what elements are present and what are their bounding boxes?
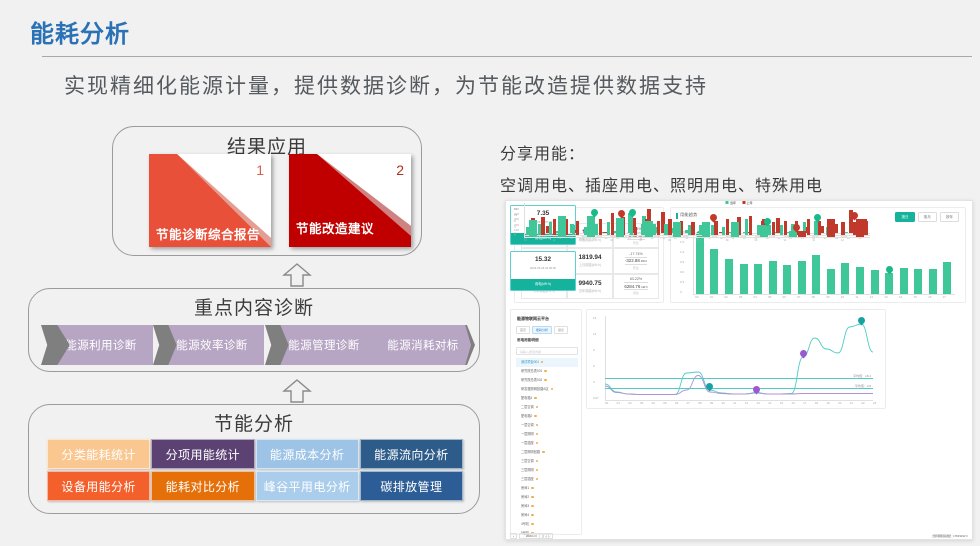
sidebar-tree-item-label: 一层照明 [521, 432, 534, 436]
energy-trend-tabs: 按日按月按年 [895, 212, 959, 222]
x-tick-label: 18 [815, 401, 818, 405]
saving-tile-label: 碳排放管理 [380, 478, 442, 495]
bar [673, 222, 681, 237]
report-card-1[interactable]: 1 节能诊断综合报告 [149, 154, 271, 247]
sidebar-tree-item-label: 房间4 [521, 513, 529, 517]
chevron-face: 能源消耗对标 [375, 325, 471, 365]
sidebar-tree-item[interactable]: 二层空调 [516, 403, 578, 412]
x-tick-label: 22 [861, 401, 864, 405]
y-tick-label: 500 [514, 207, 519, 211]
sidebar-tree-item-label: 研究院总表002 [521, 378, 542, 382]
y-tick-label: 0 [680, 290, 682, 294]
kpi-note: 环比 [633, 241, 639, 245]
sidebar-tree-item-label: 三层照明 [521, 468, 534, 472]
saving-analysis-group: 节能分析 分类能耗统计 分项用能统计 能源成本分析 能源流向分析 设备用能分析 … [28, 404, 480, 514]
x-tick-label: 16 [791, 401, 794, 405]
sidebar-tree-item-label: 三层空调 [521, 459, 534, 463]
daily-total: 当年累积总量：17315kW·h [932, 534, 968, 538]
sidebar-tree-item[interactable]: 三层插座 [516, 475, 578, 484]
saving-tile-label: 能源流向分析 [374, 446, 448, 463]
info-card-button[interactable]: 用电(kW·h) [511, 279, 575, 290]
report-card-label: 节能诊断综合报告 [156, 227, 266, 243]
nav-pill[interactable]: 报表 [554, 326, 568, 334]
status-dot-icon [551, 388, 553, 390]
sidebar-tree-item[interactable]: 房间1 [516, 484, 578, 493]
x-tick-label: 10 [722, 401, 725, 405]
sidebar-tree-item[interactable]: 三层空调 [516, 457, 578, 466]
x-tick-label: 11 [855, 295, 858, 299]
bar [769, 261, 777, 294]
y-tick-label: 200 [514, 223, 519, 227]
sidebar-search-input[interactable]: 请输入搜索内容 [516, 347, 578, 355]
saving-tile-7[interactable]: 碳排放管理 [360, 471, 463, 501]
y-tick-label: 0.6 [680, 270, 684, 274]
x-tick-label: 11 [812, 239, 814, 242]
bar [812, 255, 820, 294]
y-tick-label: 9 [593, 348, 595, 352]
x-tick-label: 01 [617, 401, 620, 405]
bar [943, 262, 951, 294]
daily-pager[interactable]: ‹ 2023 › [510, 533, 549, 539]
bar [929, 269, 937, 294]
kpi-cell: 63.22%6284.76 kW·h同比 [613, 274, 659, 299]
saving-analysis-title: 节能分析 [29, 409, 479, 436]
sidebar-tree-item-label: 4号机 [521, 522, 529, 526]
report-card-label: 节能改造建议 [296, 221, 406, 237]
x-tick-label: 15 [914, 295, 917, 299]
kpi-delta: -322.88 kW·h [625, 257, 647, 265]
sidebar-section-title: 用电用能明细 [517, 338, 539, 343]
kpi-delta: 6284.76 kW·h [624, 282, 647, 290]
prev-button[interactable]: ‹ [510, 533, 517, 539]
x-tick-label: 02 [628, 401, 631, 405]
kpi-value: 1819.94 [578, 254, 601, 261]
x-tick-label: 15 [780, 401, 783, 405]
kpi-label: 去年用能(kW·h) [579, 288, 601, 293]
key-content-item-label: 能源消耗对标 [387, 337, 458, 353]
status-dot-icon [544, 379, 546, 381]
bar [710, 249, 718, 294]
sidebar-tree-item[interactable]: 配电箱2 [516, 412, 578, 421]
status-dot-icon [536, 424, 538, 426]
bar [558, 216, 566, 237]
kpi-note: 同比 [633, 291, 639, 295]
sidebar-tree-item-label: 房间2 [521, 495, 529, 499]
status-dot-icon [531, 487, 533, 489]
x-tick-label: 08 [812, 295, 815, 299]
bar [696, 238, 704, 294]
sidebar-tree-item[interactable]: 三层照明 [516, 466, 578, 475]
saving-tile-label: 能耗对比分析 [166, 478, 240, 495]
sidebar-tree-item-label: 二层照明回路 [521, 450, 540, 454]
x-tick-label: 09 [826, 295, 829, 299]
dashboard-screenshot: 环比 14.69今日用能(kW·h)16.01昨日用能(kW·h)-8.24%-… [505, 200, 973, 540]
x-tick-label: 08 [726, 239, 729, 242]
info-card-value: 15.32 [511, 256, 575, 263]
y-tick-label: 16 [593, 316, 596, 320]
share-items: 空调用电、插座用电、照明用电、特殊用电 [500, 172, 823, 196]
saving-analysis-tiles: 分类能耗统计 分项用能统计 能源成本分析 能源流向分析 设备用能分析 能耗对比分… [47, 439, 463, 501]
bar [616, 218, 624, 237]
bar [702, 222, 710, 238]
sidebar-tree-item[interactable]: 一层插座 [516, 439, 578, 448]
key-content-item-label: 能源利用诊断 [65, 337, 136, 353]
key-content-item-3[interactable]: 能源消耗对标 [375, 325, 475, 365]
x-tick-label: 03 [582, 239, 585, 242]
y-tick-label: 300 [514, 217, 519, 221]
x-tick-label: 13 [884, 295, 887, 299]
saving-tile-4[interactable]: 设备用能分析 [47, 471, 150, 501]
status-dot-icon [536, 460, 538, 462]
saving-tile-6[interactable]: 峰谷平用电分析 [256, 471, 359, 501]
status-dot-icon [536, 478, 538, 480]
bar [645, 221, 653, 238]
x-tick-label: 23 [873, 401, 876, 405]
legend-entry: 当年 [725, 201, 736, 205]
next-button[interactable]: › [542, 533, 549, 539]
x-tick-label: 01 [524, 239, 527, 242]
saving-tile-0[interactable]: 分类能耗统计 [47, 439, 150, 469]
x-tick-label: 07 [697, 239, 700, 242]
status-dot-icon [541, 361, 543, 363]
y-axis [693, 228, 694, 294]
sidebar-tree-item[interactable]: 一层空调 [516, 421, 578, 430]
load-curve-panel: 平均值：16.1平均值：2.60.07369121600010203040506… [586, 309, 886, 409]
sidebar-tree-item-label: 房间1 [521, 486, 529, 490]
kpi-percent: 63.22% [630, 277, 642, 281]
status-dot-icon [536, 433, 538, 435]
status-dot-icon [544, 370, 546, 372]
chart-tab[interactable]: 按日 [895, 212, 914, 222]
bar [725, 259, 733, 294]
chart-tab[interactable]: 按月 [918, 212, 937, 222]
x-tick-label: 07 [797, 295, 800, 299]
sidebar-tree-item-label: 三层插座 [521, 477, 534, 481]
x-tick-label: 00 [605, 401, 608, 405]
x-tick-label: 09 [755, 239, 758, 242]
status-dot-icon [536, 406, 538, 408]
x-tick-label: 20 [838, 401, 841, 405]
x-tick-label: 11 [733, 401, 736, 405]
dashboard-app-title: 能源物联网云平台 [517, 316, 549, 322]
saving-tile-label: 分类能耗统计 [61, 446, 135, 463]
x-tick-label: 05 [768, 295, 771, 299]
key-content-item-2[interactable]: 能源管理诊断 [265, 325, 369, 365]
saving-tile-label: 设备用能分析 [61, 478, 135, 495]
y-tick-label: 6 [593, 364, 595, 368]
sidebar-tree-item[interactable]: 研究院总表001 [516, 367, 578, 376]
sidebar-tree-item[interactable]: 房间4 [516, 511, 578, 520]
result-application-group: 结果应用 1 节能诊断综合报告 2 节能改造建议 [112, 126, 422, 256]
saving-tile-1[interactable]: 分项用能统计 [151, 439, 254, 469]
sidebar-tree-item[interactable]: 配电箱1 [516, 394, 578, 403]
x-axis [524, 237, 870, 238]
saving-tile-5[interactable]: 能耗对比分析 [151, 471, 254, 501]
y-tick-label: 3 [593, 380, 595, 384]
status-dot-icon [534, 415, 536, 417]
saving-tile-2[interactable]: 能源成本分析 [256, 439, 359, 469]
y-tick-label: 100 [514, 228, 519, 232]
up-arrow-icon [282, 378, 312, 404]
bar [841, 263, 849, 294]
saving-tile-3[interactable]: 能源流向分析 [360, 439, 463, 469]
y-tick-label: 0 [514, 233, 516, 237]
status-dot-icon [536, 469, 538, 471]
x-tick-label: 06 [668, 239, 671, 242]
x-tick-label: 17 [803, 401, 806, 405]
sidebar-tree-item[interactable]: 研究院总表002 [516, 376, 578, 385]
dashboard-nav-pills: 首页能耗分析报表 [516, 326, 568, 334]
kpi-percent: -17.74% [629, 252, 642, 256]
x-tick-label: 09 [710, 401, 713, 405]
sidebar-tree-item[interactable]: 二层照明回路 [516, 448, 578, 457]
x-tick-label: 21 [850, 401, 853, 405]
page-subtitle: 实现精细化能源计量，提供数据诊断，为节能改造提供数据支持 [64, 70, 708, 100]
average-label: 平均值：2.6 [855, 384, 871, 388]
key-content-item-0[interactable]: 能源利用诊断 [41, 325, 145, 365]
x-tick-label: 00 [695, 295, 698, 299]
share-label: 分享用能： [500, 140, 585, 164]
y-tick-label: 0.3 [680, 280, 684, 284]
sidebar-tree-item-label: 研发楼照明回路A区 [521, 387, 549, 391]
bar [871, 270, 879, 294]
key-content-item-1[interactable]: 能源效率诊断 [153, 325, 257, 365]
x-tick-label: 12 [745, 401, 748, 405]
average-line [605, 378, 873, 379]
status-dot-icon [531, 523, 533, 525]
y-axis [524, 207, 525, 237]
status-dot-icon [531, 514, 533, 516]
sidebar-tree-item[interactable]: 研发楼照明回路A区 [516, 385, 578, 394]
key-content-title: 重点内容诊断 [29, 293, 479, 320]
bar [798, 261, 806, 294]
status-dot-icon [542, 451, 544, 453]
x-tick-label: 19 [826, 401, 829, 405]
y-tick-label: 1.2 [680, 250, 684, 254]
nav-pill[interactable]: 首页 [516, 326, 530, 334]
x-tick-label: 04 [753, 295, 756, 299]
kpi-label: 上月用能(kW·h) [579, 262, 601, 267]
y-tick-label: 0.07 [593, 396, 599, 400]
y-tick-label: 12 [593, 332, 596, 336]
sidebar-tree-item-label: 配电箱1 [521, 396, 532, 400]
sidebar-tree-item-label: 测试项目001 [521, 360, 539, 364]
date-value[interactable]: 2023 [519, 533, 540, 539]
key-content-group: 重点内容诊断 能源利用诊断 能源效率诊断 能源管理诊断 能源消耗对标 [28, 288, 480, 372]
x-tick-label: 10 [784, 239, 787, 242]
chart-tab[interactable]: 按年 [940, 212, 959, 222]
sidebar-tree-item-label: 二层空调 [521, 405, 534, 409]
x-tick-label: 06 [783, 295, 786, 299]
x-tick-label: 10 [841, 295, 844, 299]
status-dot-icon [531, 496, 533, 498]
bar [754, 264, 762, 294]
nav-pill[interactable]: 能耗分析 [532, 326, 552, 334]
sidebar-tree-item[interactable]: 房间3 [516, 502, 578, 511]
y-tick-label: 400 [514, 212, 519, 216]
saving-tile-label: 峰谷平用电分析 [264, 478, 351, 495]
sidebar-tree-item-label: 房间3 [521, 504, 529, 508]
x-tick-label: 05 [663, 401, 666, 405]
x-tick-label: 03 [739, 295, 742, 299]
bar [798, 231, 806, 238]
key-content-item-label: 能源效率诊断 [176, 337, 247, 353]
bar [587, 216, 595, 238]
kpi-value: 9940.75 [578, 280, 601, 287]
x-tick-label: 07 [687, 401, 690, 405]
x-tick-label: 04 [611, 239, 614, 242]
x-tick-label: 01 [710, 295, 713, 299]
x-tick-label: 12 [870, 295, 873, 299]
legend-entry: 上年 [742, 201, 753, 205]
average-label: 平均值：16.1 [853, 374, 871, 378]
bar [783, 265, 791, 294]
bar [529, 220, 537, 238]
page-title: 能耗分析 [30, 14, 130, 49]
monthly-plot: 0102030405060708091011120100200300400500 [524, 207, 870, 237]
bar [914, 269, 922, 294]
x-tick-label: 12 [841, 239, 844, 242]
process-diagram: 结果应用 1 节能诊断综合报告 2 节能改造建议 重点内容诊断 能 [28, 122, 480, 518]
x-tick-label: 17 [943, 295, 946, 299]
x-tick-label: 06 [675, 401, 678, 405]
sidebar-tree-item-label: 研究院总表001 [521, 369, 542, 373]
sidebar-tree-item[interactable]: 房间2 [516, 493, 578, 502]
x-tick-label: 14 [768, 401, 771, 405]
status-dot-icon [534, 397, 536, 399]
bar [856, 219, 864, 238]
x-tick-label: 05 [639, 239, 642, 242]
x-tick-label: 13 [756, 401, 759, 405]
bar [740, 264, 748, 294]
report-card-number: 1 [256, 162, 264, 178]
x-tick-label: 14 [899, 295, 902, 299]
saving-tile-label: 能源成本分析 [270, 446, 344, 463]
info-card-timestamp: 2023-06-26 22:00:00 [511, 266, 575, 270]
bar [827, 219, 835, 238]
bar [856, 267, 864, 294]
sidebar-tree-item[interactable]: 一层照明 [516, 430, 578, 439]
sidebar-tree-item-label: 一层空调 [521, 423, 534, 427]
monthly-legend: 当年上年 [725, 201, 752, 205]
x-tick-label: 02 [553, 239, 556, 242]
average-line [605, 388, 873, 389]
up-arrow-icon [282, 262, 312, 288]
sidebar-tree-item-label: 一层插座 [521, 441, 534, 445]
kpi-cell: -17.74%-322.88 kW·h环比 [613, 248, 659, 273]
bar [885, 273, 893, 294]
x-tick-label: 03 [640, 401, 643, 405]
load-curve-plot: 平均值：16.1平均值：2.60.07369121600010203040506… [605, 316, 873, 400]
status-dot-icon [536, 442, 538, 444]
report-card-2[interactable]: 2 节能改造建议 [289, 154, 411, 247]
bar [900, 268, 908, 294]
sidebar-tree-item[interactable]: 测试项目001 [516, 358, 578, 367]
bar [827, 269, 835, 294]
kpi-note: 环比 [633, 266, 639, 270]
x-tick-label: 04 [652, 401, 655, 405]
bar [731, 222, 739, 237]
report-card-number: 2 [396, 162, 404, 178]
saving-tile-label: 分项用能统计 [166, 446, 240, 463]
sidebar-tree-item[interactable]: 4号机 [516, 520, 578, 529]
status-dot-icon [531, 505, 533, 507]
key-content-item-label: 能源管理诊断 [288, 337, 359, 353]
title-divider [42, 56, 972, 57]
x-tick-label: 02 [724, 295, 727, 299]
y-tick-label: 0.9 [680, 260, 684, 264]
dashboard-sidebar: 能源物联网云平台 首页能耗分析报表 用电用能明细 请输入搜索内容 测试项目001… [510, 309, 582, 535]
x-tick-label: 16 [928, 295, 931, 299]
y-tick-label: 1.5 [680, 240, 684, 244]
x-tick-label: 08 [698, 401, 701, 405]
info-card-1[interactable]: 15.32 2023-06-26 22:00:00 用电(kW·h) [510, 251, 576, 291]
sidebar-tree-item-label: 配电箱2 [521, 414, 532, 418]
